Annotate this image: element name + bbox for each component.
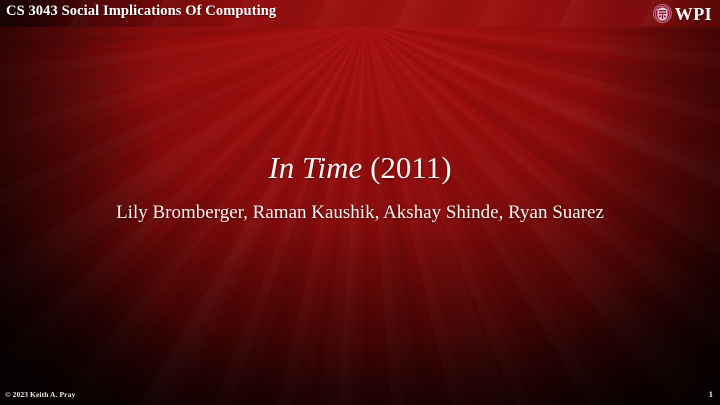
movie-year: (2011) — [362, 150, 451, 185]
movie-name: In Time — [268, 150, 362, 185]
slide-header-bar: CS 3043 Social Implications Of Computing… — [0, 0, 720, 27]
course-title: CS 3043 Social Implications Of Computing — [6, 3, 276, 20]
slide-body: In Time (2011) Lily Bromberger, Raman Ka… — [0, 150, 720, 224]
author-list: Lily Bromberger, Raman Kaushik, Akshay S… — [0, 202, 720, 224]
copyright-notice: © 2023 Keith A. Pray — [5, 390, 75, 399]
presentation-slide: CS 3043 Social Implications Of Computing… — [0, 0, 720, 405]
page-number: 1 — [709, 389, 713, 399]
slide-title: In Time (2011) — [0, 150, 720, 186]
wpi-wordmark: WPI — [675, 5, 712, 23]
wpi-seal-icon — [653, 4, 672, 23]
wpi-logo: WPI — [653, 1, 712, 26]
